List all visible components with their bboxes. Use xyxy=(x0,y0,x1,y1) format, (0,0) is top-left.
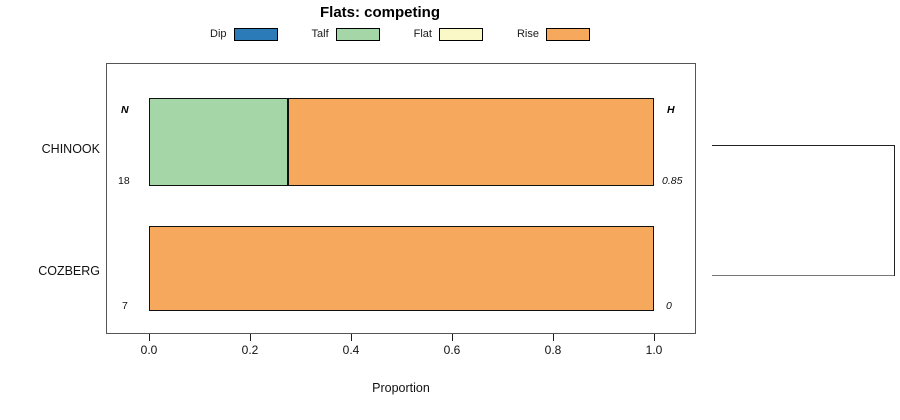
legend-swatch-dip xyxy=(234,28,278,41)
dendrogram xyxy=(700,60,900,320)
legend-item-rise: Rise xyxy=(517,28,590,41)
bar-row-chinook xyxy=(149,98,654,186)
dendrogram-branch-cozberg xyxy=(712,275,895,276)
legend-label-dip: Dip xyxy=(210,28,227,40)
legend-label-flat: Flat xyxy=(414,28,432,40)
h-value-cozberg: 0 xyxy=(666,300,672,312)
legend-item-talf: Talf xyxy=(312,28,380,41)
axis-tick-5 xyxy=(654,334,655,341)
axis-ticklabel-0: 0.0 xyxy=(129,343,169,357)
n-value-cozberg: 7 xyxy=(122,300,128,312)
axis-ticklabel-3: 0.6 xyxy=(432,343,472,357)
chart-root: Flats: competing Dip Talf Flat Rise CHIN… xyxy=(0,0,900,420)
h-value-chinook: 0.85 xyxy=(662,175,682,187)
axis-ticklabel-2: 0.4 xyxy=(331,343,371,357)
bar-row-cozberg xyxy=(149,226,654,311)
row-label-chinook: CHINOOK xyxy=(0,142,100,156)
stacked-bar-cozberg[interactable] xyxy=(149,226,654,311)
axis-title-x: Proportion xyxy=(106,381,696,395)
row-label-cozberg: COZBERG xyxy=(0,264,100,278)
stacked-bar-chinook[interactable] xyxy=(149,98,654,186)
dendrogram-branch-chinook xyxy=(712,145,895,146)
dendrogram-connector xyxy=(894,145,895,276)
legend-item-dip: Dip xyxy=(210,28,278,41)
chart-title: Flats: competing xyxy=(0,4,760,21)
bar-segment-chinook-talf[interactable] xyxy=(150,99,287,185)
legend-swatch-talf xyxy=(336,28,380,41)
legend-item-flat: Flat xyxy=(414,28,483,41)
chart-legend: Dip Talf Flat Rise xyxy=(210,25,590,43)
bar-segment-chinook-rise[interactable] xyxy=(287,99,653,185)
legend-label-talf: Talf xyxy=(312,28,329,40)
axis-tick-0 xyxy=(149,334,150,341)
axis-ticklabel-1: 0.2 xyxy=(230,343,270,357)
axis-ticklabel-5: 1.0 xyxy=(634,343,674,357)
legend-swatch-rise xyxy=(546,28,590,41)
bar-divider-chinook xyxy=(287,99,289,185)
n-value-chinook: 18 xyxy=(118,175,130,187)
legend-label-rise: Rise xyxy=(517,28,539,40)
axis-tick-2 xyxy=(351,334,352,341)
legend-swatch-flat xyxy=(439,28,483,41)
axis-tick-3 xyxy=(452,334,453,341)
axis-ticklabel-4: 0.8 xyxy=(533,343,573,357)
axis-tick-4 xyxy=(553,334,554,341)
axis-tick-1 xyxy=(250,334,251,341)
h-column-header: H xyxy=(667,104,675,116)
n-column-header: N xyxy=(121,104,129,116)
bar-segment-cozberg-rise[interactable] xyxy=(150,227,653,310)
